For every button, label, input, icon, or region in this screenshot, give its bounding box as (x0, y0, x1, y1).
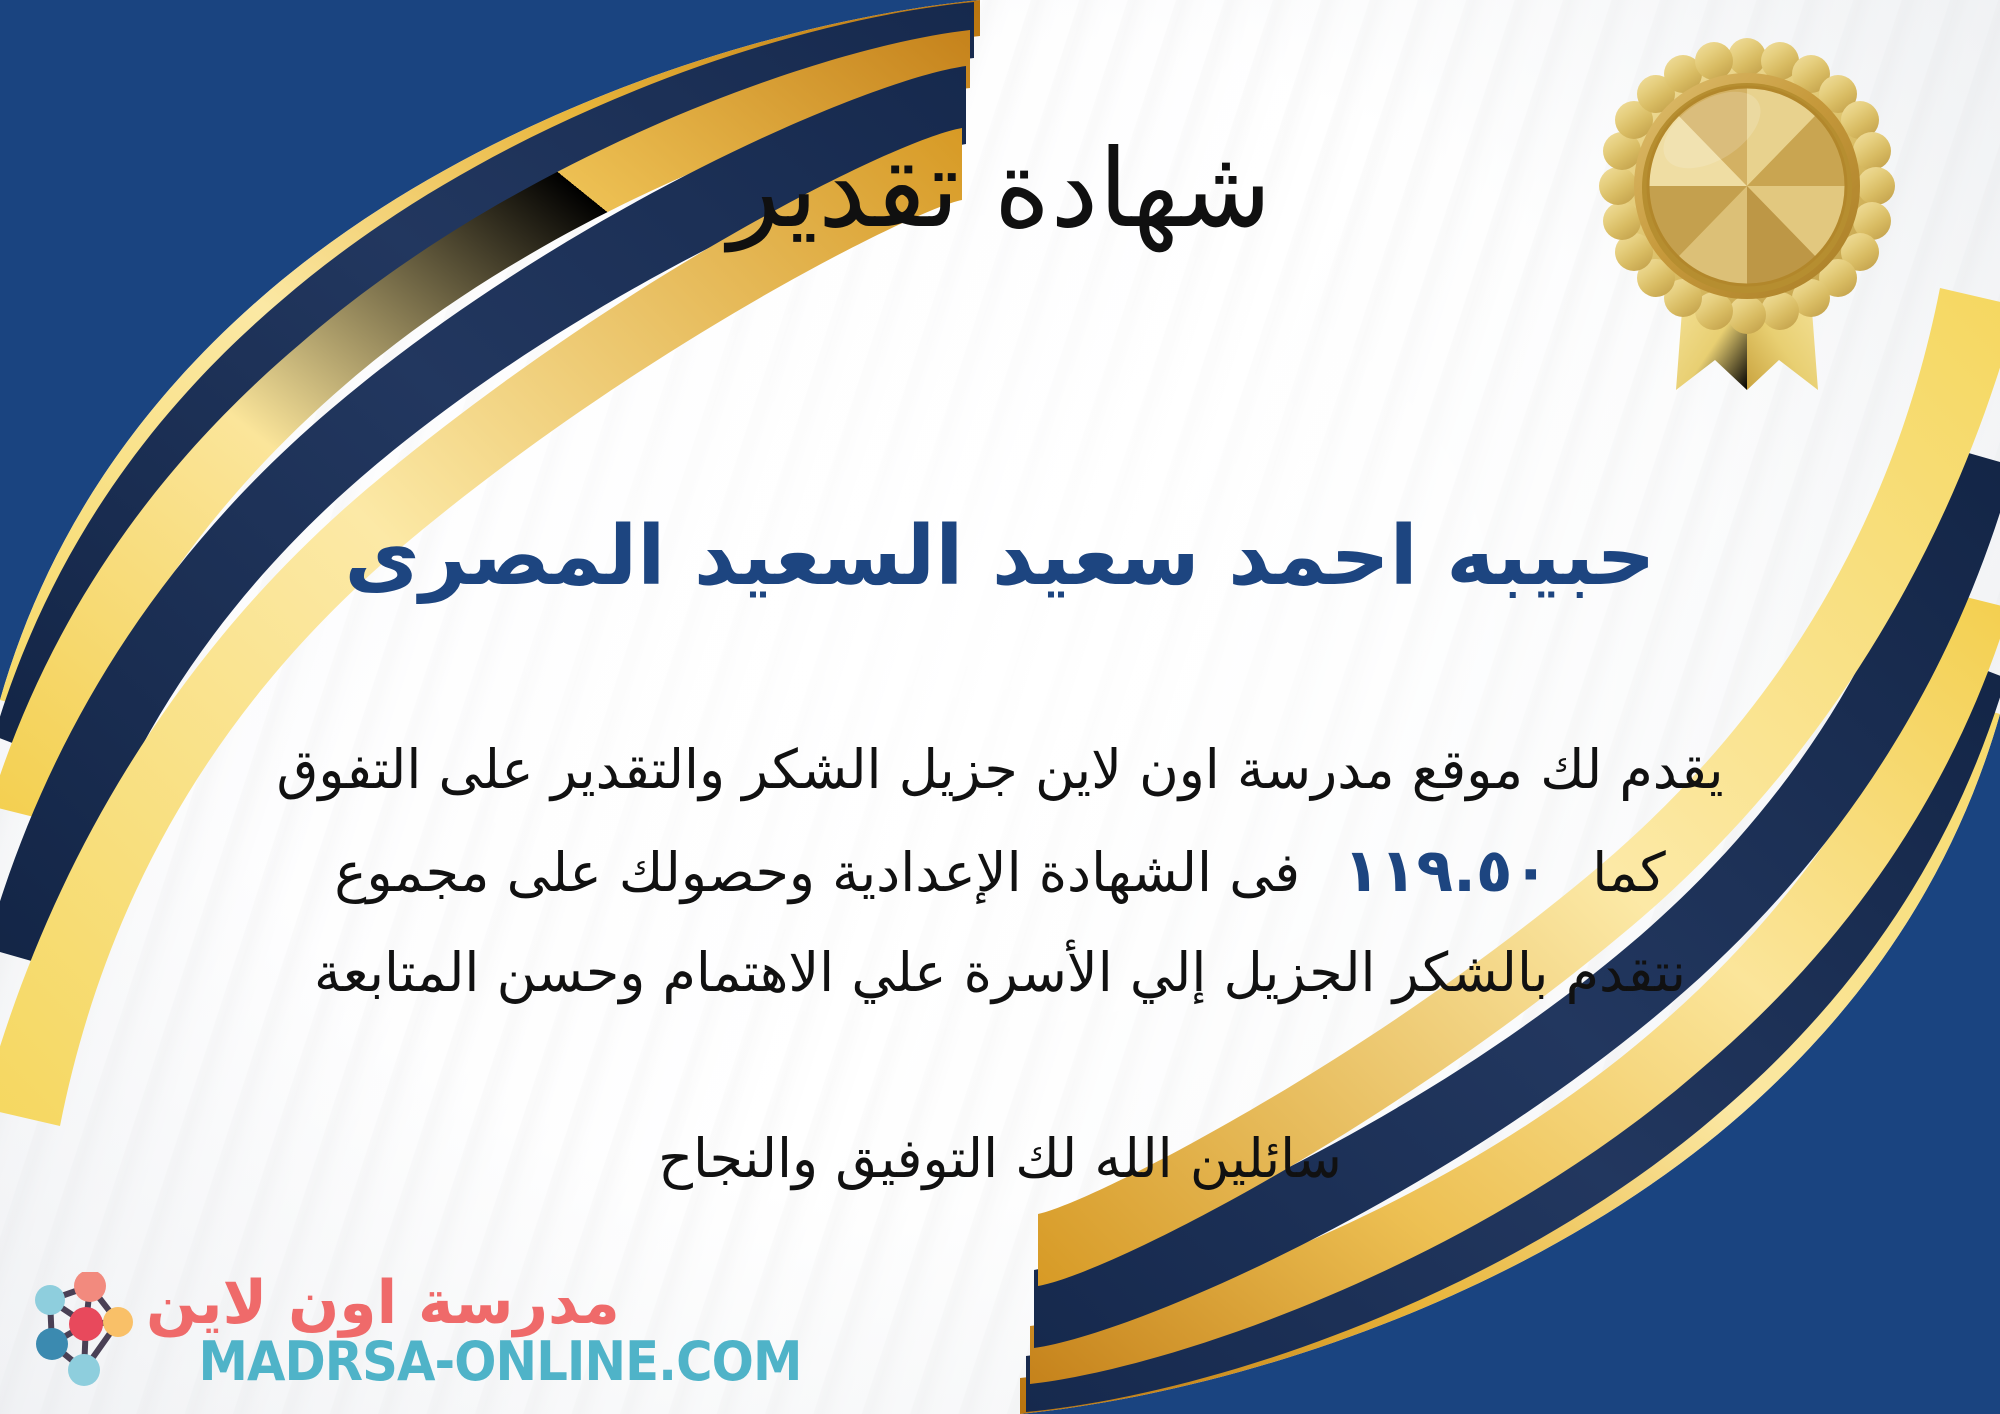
brand-logo[interactable]: مدرسة اون لاين MADRSA-ONLINE.COM (28, 1272, 802, 1390)
brand-domain: MADRSA-ONLINE.COM (198, 1335, 801, 1389)
certificate-canvas: شهادة تقدير حبيبه احمد سعيد السعيد المصر… (0, 0, 2000, 1414)
node-light-blue (68, 1354, 100, 1386)
body-line-3: نتقدم بالشكر الجزيل إلي الأسرة علي الاهت… (60, 925, 1940, 1021)
network-nodes-icon (28, 1272, 136, 1390)
node-orange (103, 1307, 133, 1337)
brand-name-arabic: مدرسة اون لاين (146, 1273, 620, 1333)
body-line-2: كما ١١٩.٥٠ فى الشهادة الإعدادية وحصولك ع… (60, 818, 1940, 925)
node-red (69, 1307, 103, 1341)
body-line-1: يقدم لك موقع مدرسة اون لاين جزيل الشكر و… (60, 722, 1940, 818)
gold-rosette-medal-icon (1572, 38, 1922, 398)
node-steel-blue (36, 1328, 68, 1360)
body-line-2-prefix: كما (1592, 841, 1665, 904)
brand-text: مدرسة اون لاين MADRSA-ONLINE.COM (146, 1273, 802, 1389)
recipient-name: حبيبه احمد سعيد السعيد المصرى (0, 508, 2000, 606)
score-value: ١١٩.٥٠ (1317, 836, 1575, 906)
node-light-teal (35, 1285, 65, 1315)
certificate-body: يقدم لك موقع مدرسة اون لاين جزيل الشكر و… (60, 722, 1940, 1021)
body-line-2-suffix: فى الشهادة الإعدادية وحصولك على مجموع (334, 841, 1300, 904)
closing-line: سائلين الله لك التوفيق والنجاح (0, 1118, 2000, 1199)
